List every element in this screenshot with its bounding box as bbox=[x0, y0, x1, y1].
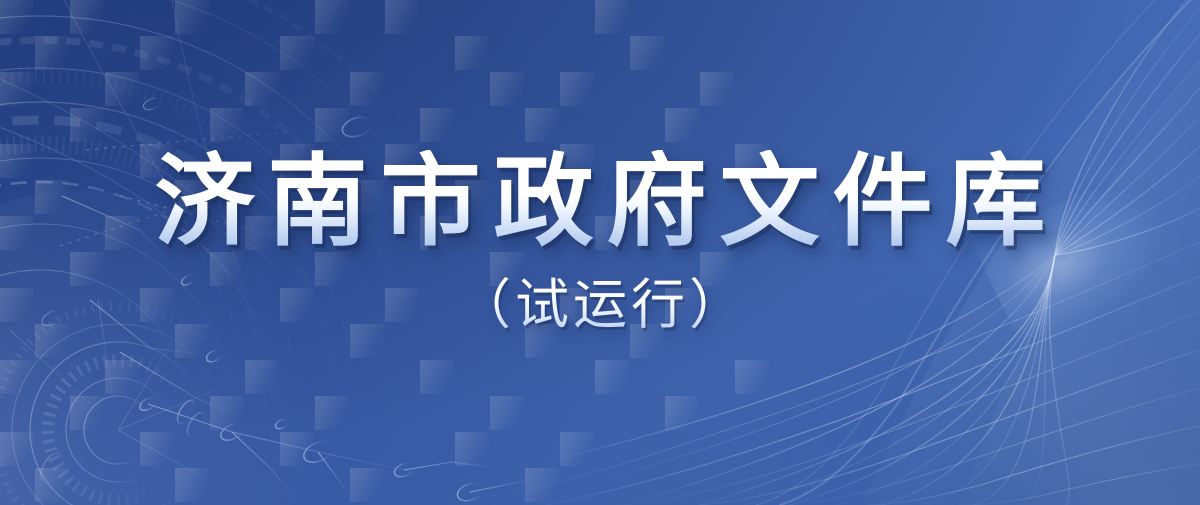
government-document-library-banner: 济南市政府文件库 （试运行） bbox=[0, 0, 1200, 505]
banner-text-block: 济南市政府文件库 （试运行） bbox=[0, 150, 1200, 334]
page-title: 济南市政府文件库 bbox=[0, 150, 1200, 254]
page-subtitle: （试运行） bbox=[0, 276, 1200, 334]
